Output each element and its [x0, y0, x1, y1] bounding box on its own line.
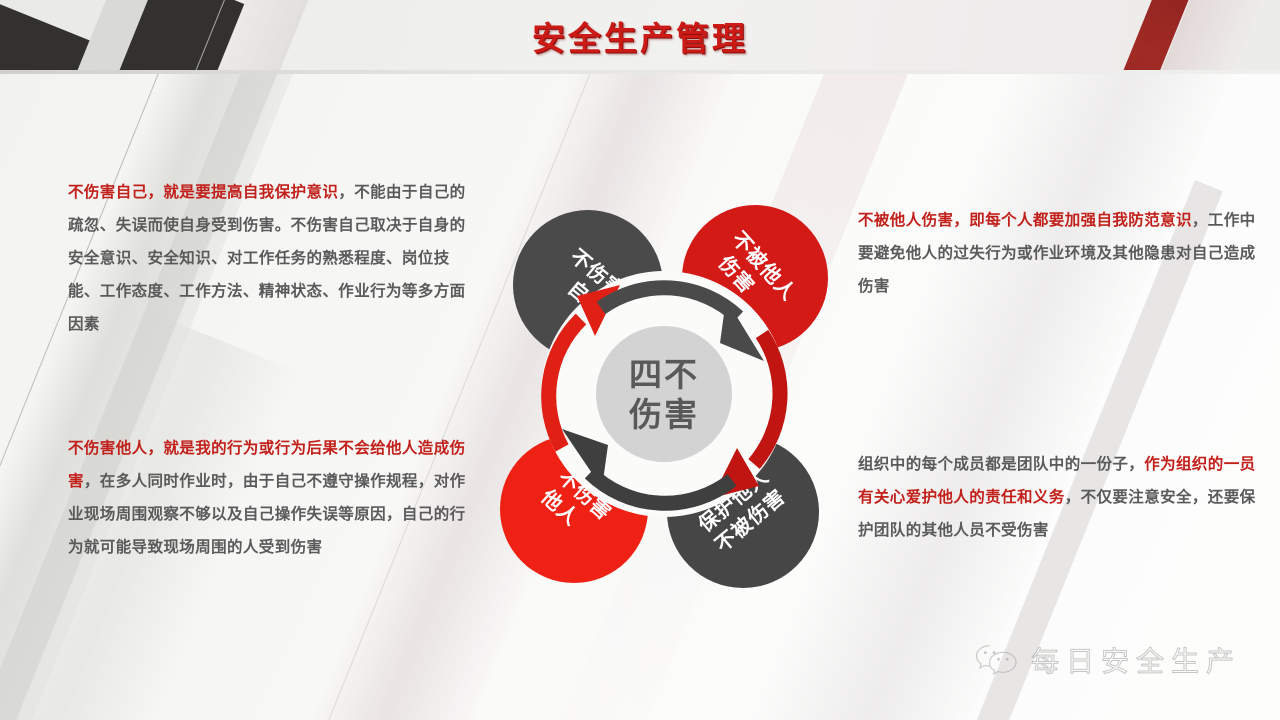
center-label-line2: 伤害: [628, 395, 699, 434]
four-no-harm-diagram: 不伤害 自己 不被他人 伤害 不伤害 他人: [462, 186, 866, 596]
center-circle: [596, 326, 732, 462]
wechat-icon: [975, 643, 1019, 677]
paragraph-no-harm-to-self: 不伤害自己，就是要提高自我保护意识，不能由于自己的疏忽、失误而使自身受到伤害。不…: [68, 176, 468, 341]
paragraph-protect-others: 组织中的每个成员都是团队中的一份子，作为组织的一员有关心爱护他人的责任和义务，不…: [858, 448, 1270, 547]
diagram-center[interactable]: 四不 伤害: [596, 326, 732, 462]
paragraph-lead: 组织中的每个成员都是团队中的一份子，: [858, 455, 1144, 473]
page-title: 安全生产管理: [0, 12, 1280, 60]
header-bar: 安全生产管理: [0, 0, 1280, 74]
paragraph-body: ，不能由于自己的疏忽、失误而使自身受到伤害。不伤害自己取决于自身的安全意识、安全…: [68, 183, 466, 333]
slide-canvas: 安全生产管理 不伤害自己，就是要提高自我保护意识，不能由于自己的疏忽、失误而使自…: [0, 0, 1280, 720]
paragraph-highlight: 不被他人伤害，即每个人都要加强自我防范意识: [858, 211, 1192, 229]
header-underline: [0, 70, 1280, 74]
watermark: 每日安全生产: [975, 640, 1241, 680]
center-label-line1: 四不: [629, 355, 699, 394]
paragraph-body: ，在多人同时作业时，由于自己不遵守操作规程，对作业现场周围观察不够以及自己操作失…: [68, 472, 466, 556]
paragraph-not-harmed-by-others: 不被他人伤害，即每个人都要加强自我防范意识，工作中要避免他人的过失行为或作业环境…: [858, 204, 1258, 303]
paragraph-no-harm-to-others: 不伤害他人，就是我的行为或行为后果不会给他人造成伤害，在多人同时作业时，由于自己…: [68, 432, 468, 564]
watermark-label: 每日安全生产: [1031, 640, 1241, 680]
paragraph-highlight: 不伤害自己，就是要提高自我保护意识: [68, 183, 338, 201]
